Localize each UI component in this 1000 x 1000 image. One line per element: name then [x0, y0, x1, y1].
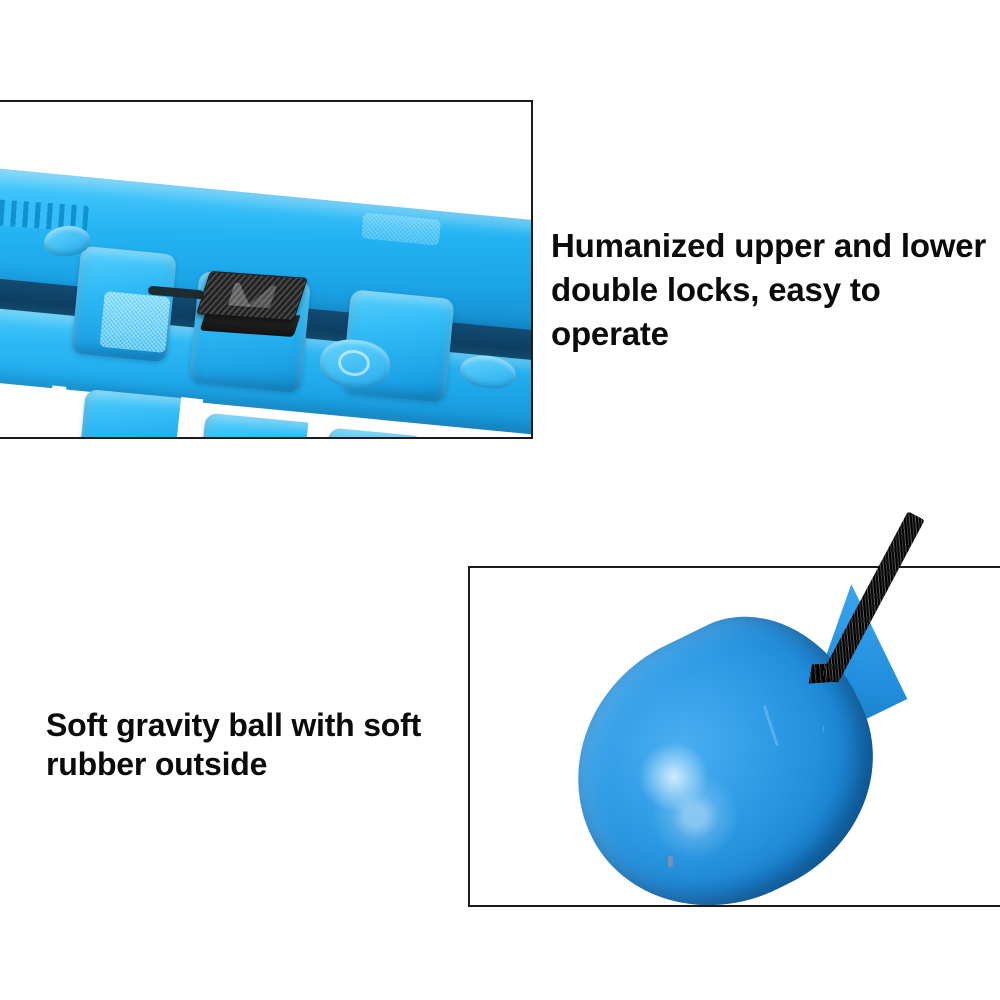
feature-caption-gravity-ball: Soft gravity ball with soft rubber outsi…: [46, 706, 466, 784]
hoop-segment-gap-left: [48, 385, 67, 432]
gravity-ball-highlight: [638, 744, 710, 810]
infographic-canvas: Humanized upper and lower double locks, …: [0, 0, 1000, 1000]
gravity-ball-photo: [470, 568, 1000, 905]
hoop-texture-patch-left: [99, 291, 170, 353]
hoop-detail-photo: [0, 102, 531, 437]
photo-speck-artifact: [668, 856, 673, 867]
hoop-detail-panel: [0, 100, 533, 439]
feature-caption-double-locks: Humanized upper and lower double locks, …: [551, 224, 991, 356]
gravity-ball-illustration: [470, 568, 1000, 907]
hoop-illustration: [0, 100, 533, 439]
hoop-collar-lower-right: [323, 428, 425, 439]
lock-button-icon: [196, 271, 308, 321]
gravity-ball-panel: [468, 566, 1000, 907]
hoop-collar-lower-mid: [199, 413, 318, 439]
